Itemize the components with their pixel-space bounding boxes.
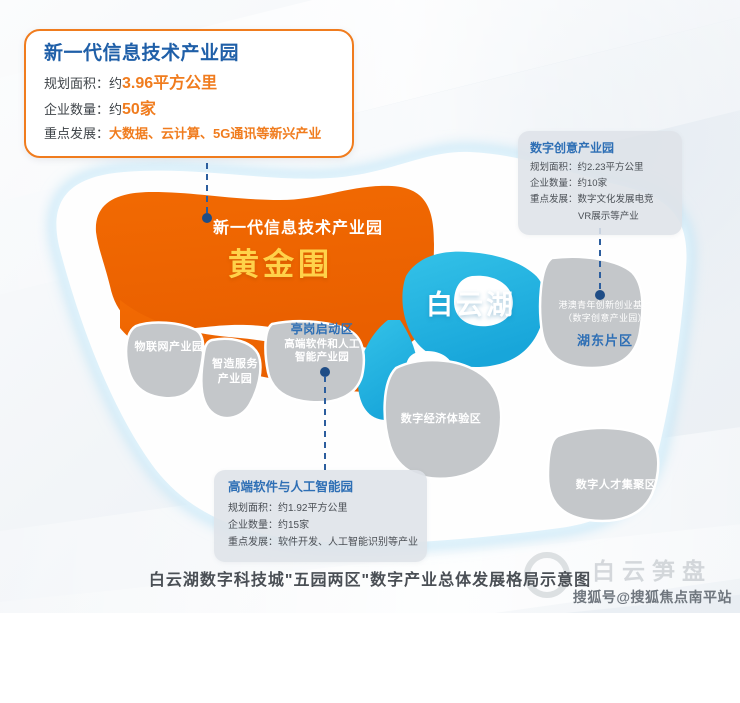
hudong-line2: （数字创意产业园） [537, 312, 673, 325]
infographic-map: 新一代信息技术产业园 黄金围 白云湖 物联网产业园 智造服务 产业园 数字经济体… [0, 0, 740, 613]
map-label-huangjinwei: 黄金围 [228, 239, 333, 284]
smart-mfg-line1: 智造服务 [203, 357, 267, 372]
software-focus-value: 软件开发、人工智能识别等产业 [278, 537, 418, 548]
tinggang-title: 亭岗启动区 [276, 322, 368, 338]
creative-count-key: 企业数量： [530, 178, 578, 189]
callout-software-park: 高端软件与人工智能园 规划面积：约1.92平方公里 企业数量：约15家 重点发展… [214, 470, 427, 562]
newgen-area-prefix: 约 [109, 76, 122, 91]
watermark-sohu: 搜狐号@搜狐焦点南平站 [573, 587, 732, 607]
newgen-count-value: 50家 [122, 101, 156, 118]
newgen-focus-value: 大数据、云计算、5G通讯等新兴产业 [109, 126, 321, 141]
tinggang-line2: 智能产业园 [276, 351, 368, 365]
map-label-tinggang: 亭岗启动区 高端软件和人工 智能产业园 [276, 322, 368, 365]
creative-area-value: 约2.23平方公里 [578, 162, 644, 173]
hudong-title: 湖东片区 [537, 330, 673, 349]
newgen-area-value: 3.96平方公里 [122, 75, 217, 92]
map-label-digital-economy: 数字经济体验区 [395, 412, 487, 427]
callout-newgen-row-focus: 重点发展：大数据、云计算、5G通讯等新兴产业 [44, 123, 336, 144]
callout-creative-park: 数字创意产业园 规划面积：约2.23平方公里 企业数量：约10家 重点发展：数字… [518, 131, 682, 235]
callout-newgen-row-count: 企业数量：约50家 [44, 97, 336, 123]
map-label-digital-talent: 数字人才集聚区 [570, 478, 662, 493]
callout-newgen-row-area: 规划面积：约3.96平方公里 [44, 71, 336, 97]
callout-creative-row-extra: VR展示等产业 [530, 209, 671, 225]
newgen-area-key: 规划面积： [44, 76, 109, 91]
callout-creative-title: 数字创意产业园 [530, 140, 671, 157]
map-label-iot-park: 物联网产业园 [130, 340, 208, 355]
tinggang-line1: 高端软件和人工 [276, 338, 368, 352]
callout-creative-row-area: 规划面积：约2.23平方公里 [530, 160, 671, 176]
zone-iot-park [126, 323, 203, 399]
creative-focus-key: 重点发展： [530, 194, 578, 205]
software-count-key: 企业数量： [228, 520, 278, 531]
callout-newgen-title: 新一代信息技术产业园 [44, 42, 336, 66]
software-area-value: 约1.92平方公里 [278, 503, 347, 514]
software-focus-key: 重点发展： [228, 537, 278, 548]
map-label-baiyun-lake: 白云湖 [426, 283, 516, 322]
map-label-smart-mfg-park: 智造服务 产业园 [203, 357, 267, 386]
newgen-count-key: 企业数量： [44, 102, 109, 117]
software-count-value: 约15家 [278, 520, 309, 531]
callout-newgen-park: 新一代信息技术产业园 规划面积：约3.96平方公里 企业数量：约50家 重点发展… [24, 29, 354, 158]
zone-digital-talent [548, 428, 658, 521]
callout-software-row-focus: 重点发展：软件开发、人工智能识别等产业 [228, 534, 415, 551]
creative-area-key: 规划面积： [530, 162, 578, 173]
creative-focus-value: 数字文化发展电竞 [578, 194, 654, 205]
callout-creative-row-count: 企业数量：约10家 [530, 176, 671, 192]
hudong-line1: 港澳青年创新创业基地 [537, 299, 673, 312]
smart-mfg-line2: 产业园 [203, 372, 267, 387]
newgen-focus-key: 重点发展： [44, 126, 109, 141]
callout-software-row-count: 企业数量：约15家 [228, 517, 415, 534]
map-label-hudong: 港澳青年创新创业基地 （数字创意产业园） 湖东片区 [537, 299, 673, 349]
callout-creative-row-focus: 重点发展：数字文化发展电竞 [530, 192, 671, 208]
map-label-newgen-park: 新一代信息技术产业园 [213, 214, 383, 238]
software-area-key: 规划面积： [228, 503, 278, 514]
creative-count-value: 约10家 [578, 178, 608, 189]
newgen-count-prefix: 约 [109, 102, 122, 117]
callout-software-row-area: 规划面积：约1.92平方公里 [228, 500, 415, 517]
callout-software-title: 高端软件与人工智能园 [228, 479, 415, 497]
